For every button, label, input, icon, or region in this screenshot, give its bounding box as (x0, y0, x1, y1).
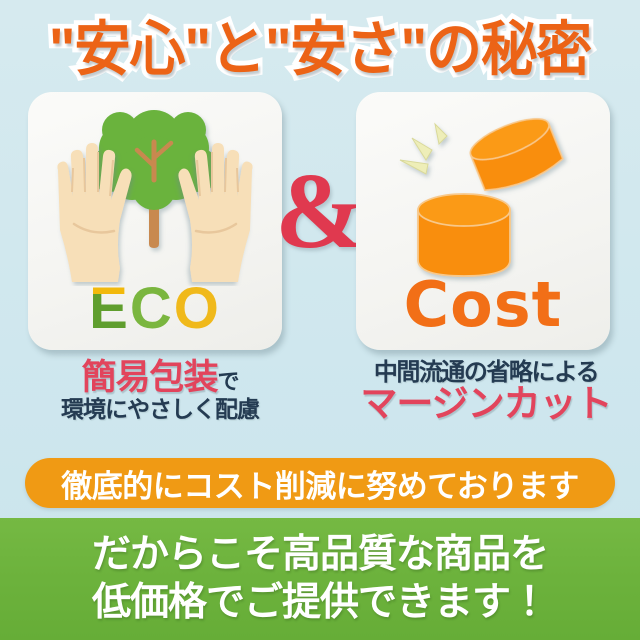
footer-line-2: 低価格でご提供できます！ (92, 579, 548, 627)
eco-letter-c: C (130, 276, 174, 341)
eco-letter-e: E (89, 276, 130, 341)
eco-wordmark: ECO (28, 280, 282, 338)
hands-holding-tree-icon (28, 96, 282, 286)
coin-stack-cut-icon (356, 100, 610, 290)
cost-reduction-banner: 徹底的にコスト削減に努めております (25, 458, 615, 508)
caption-eco-suffix: で (218, 369, 239, 394)
promo-banner: "安心"と"安さ"の秘密 (0, 0, 640, 640)
banner-title: "安心"と"安さ"の秘密 (0, 6, 640, 82)
caption-cost: 中間流通の省略による マージンカット (336, 360, 636, 424)
footer-message: だからこそ高品質な商品を 低価格でご提供できます！ (0, 518, 640, 640)
card-cost: Cost (356, 92, 610, 350)
caption-cost-line1: 中間流通の省略による (336, 360, 636, 385)
caption-eco-line1: 簡易包装で (10, 360, 310, 397)
title-text: "安心"と"安さ"の秘密 (49, 1, 591, 87)
footer-line-1: だからこそ高品質な商品を (92, 531, 548, 579)
caption-eco-line2: 環境にやさしく配慮 (10, 397, 310, 421)
caption-eco: 簡易包装で 環境にやさしく配慮 (10, 360, 310, 421)
cost-wordmark: Cost (356, 274, 610, 336)
caption-cost-line2: マージンカット (336, 385, 636, 424)
eco-letter-o: O (174, 276, 221, 341)
cost-reduction-banner-text: 徹底的にコスト削減に努めております (61, 461, 579, 506)
card-eco: ECO (28, 92, 282, 350)
caption-eco-main: 簡易包装 (81, 358, 217, 397)
